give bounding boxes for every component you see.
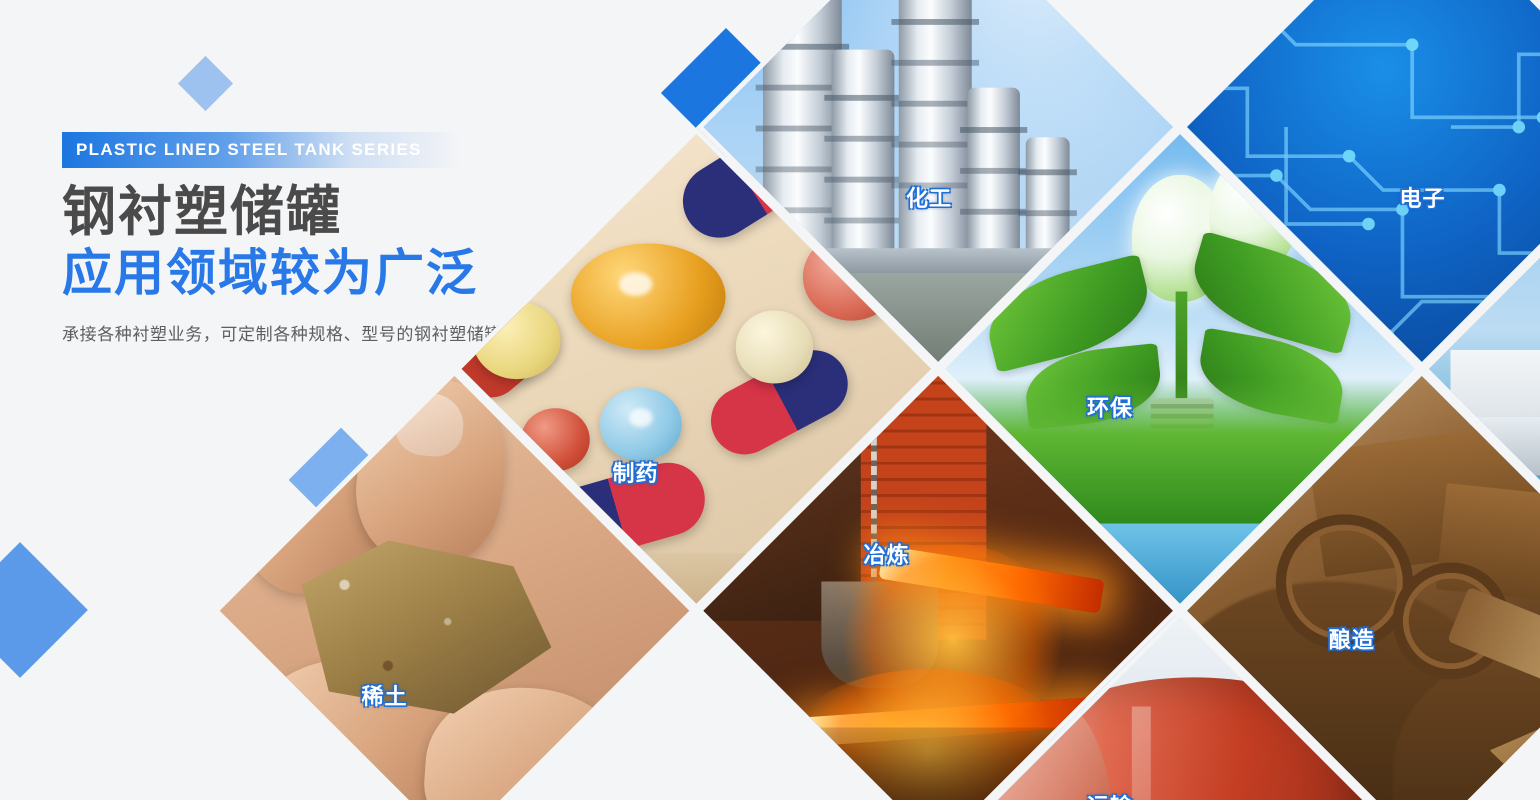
headline-primary: 钢衬塑储罐 [62,182,622,242]
diamond-left-edge [0,542,88,678]
eyebrow-tagline: PLASTIC LINED STEEL TANK SERIES [62,132,462,168]
promo-banner: PLASTIC LINED STEEL TANK SERIES 钢衬塑储罐 应用… [0,0,1540,800]
diamond-top-left-small [178,56,233,111]
industry-diamond-mosaic: 电子化工电厂环保酿造冶炼制药稀土运输 [416,0,1540,800]
